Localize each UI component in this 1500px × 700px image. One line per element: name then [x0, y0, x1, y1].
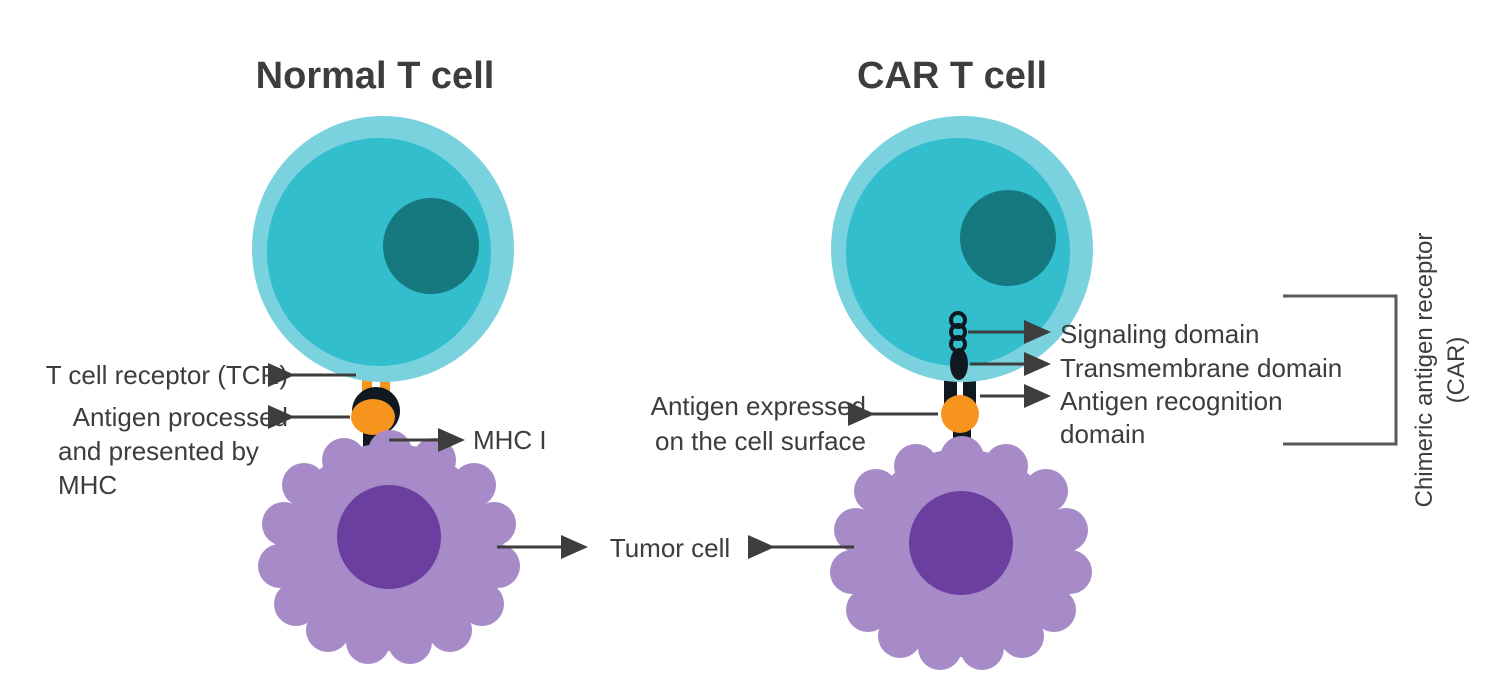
tumor-cell-right-nucleus — [909, 491, 1013, 595]
label-antigen-processed-line1: Antigen processed — [73, 402, 288, 432]
label-tcr: T cell receptor (TCR) — [46, 360, 288, 390]
label-mhc-i: MHC I — [473, 425, 547, 455]
tumor-cell-left-nucleus — [337, 485, 441, 589]
car-t-cell-nucleus — [960, 190, 1056, 286]
diagram-canvas: Normal T cell CAR T cell — [0, 0, 1500, 700]
antigen-peptide — [351, 399, 395, 435]
label-chimeric-antigen-receptor-line2: (CAR) — [1443, 337, 1470, 404]
car-t-cell-group — [830, 116, 1093, 670]
label-antigen-recognition-line2: domain — [1060, 419, 1145, 449]
car-transmembrane-domain-overlay — [950, 348, 968, 380]
label-antigen-recognition-line1: Antigen recognition — [1060, 386, 1283, 416]
label-antigen-processed-line2: and presented by — [58, 436, 259, 466]
tumor-cell-left — [258, 430, 520, 664]
panel-title-car-t-cell: CAR T cell — [857, 55, 1047, 97]
label-chimeric-antigen-receptor-line1: Chimeric antigen receptor — [1411, 233, 1438, 508]
panel-title-normal-t-cell: Normal T cell — [256, 55, 495, 97]
label-antigen-expressed-line1: Antigen expressed — [651, 391, 866, 421]
label-tumor-cell: Tumor cell — [610, 533, 730, 563]
label-antigen-processed-line3: MHC — [58, 470, 117, 500]
label-signaling-domain: Signaling domain — [1060, 319, 1259, 349]
car-t-cell-diagram: Normal T cell CAR T cell — [0, 0, 1500, 700]
normal-t-cell-group — [252, 116, 520, 664]
tumor-cell-right — [830, 436, 1092, 670]
t-cell-nucleus — [383, 198, 479, 294]
label-antigen-expressed-line2: on the cell surface — [655, 426, 866, 456]
label-transmembrane-domain: Transmembrane domain — [1060, 353, 1342, 383]
car-antigen-ball — [941, 395, 979, 433]
